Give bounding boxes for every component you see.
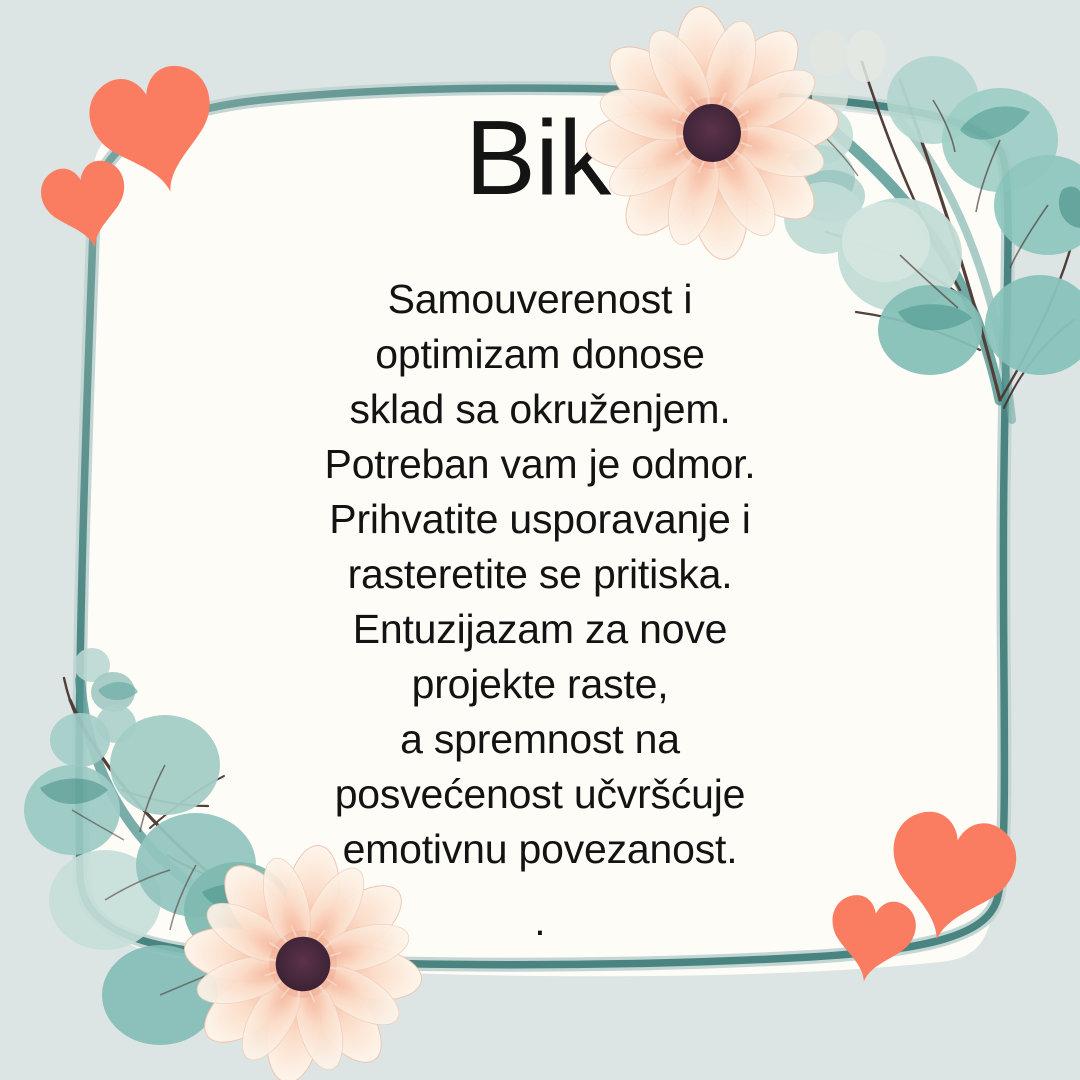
- horoscope-paragraph: Samouverenost i optimizam donose sklad s…: [140, 272, 940, 877]
- zodiac-card: Bik Samouverenost i optimizam donose skl…: [0, 0, 1080, 1080]
- paragraph-line: rasteretite se pritiska.: [140, 547, 940, 602]
- text-layer: Bik Samouverenost i optimizam donose skl…: [0, 0, 1080, 1080]
- paragraph-line: optimizam donose: [140, 327, 940, 382]
- trailing-period: .: [140, 894, 940, 949]
- paragraph-line: a spremnost na: [140, 712, 940, 767]
- paragraph-line: posvećenost učvršćuje: [140, 767, 940, 822]
- paragraph-line: Entuzijazam za nove: [140, 602, 940, 657]
- paragraph-line: sklad sa okruženjem.: [140, 382, 940, 437]
- page-title: Bik: [0, 103, 1080, 213]
- paragraph-line: Potreban vam je odmor.: [140, 437, 940, 492]
- paragraph-line: Prihvatite usporavanje i: [140, 492, 940, 547]
- paragraph-line: emotivnu povezanost.: [140, 822, 940, 877]
- paragraph-line: Samouverenost i: [140, 272, 940, 327]
- paragraph-line: projekte raste,: [140, 657, 940, 712]
